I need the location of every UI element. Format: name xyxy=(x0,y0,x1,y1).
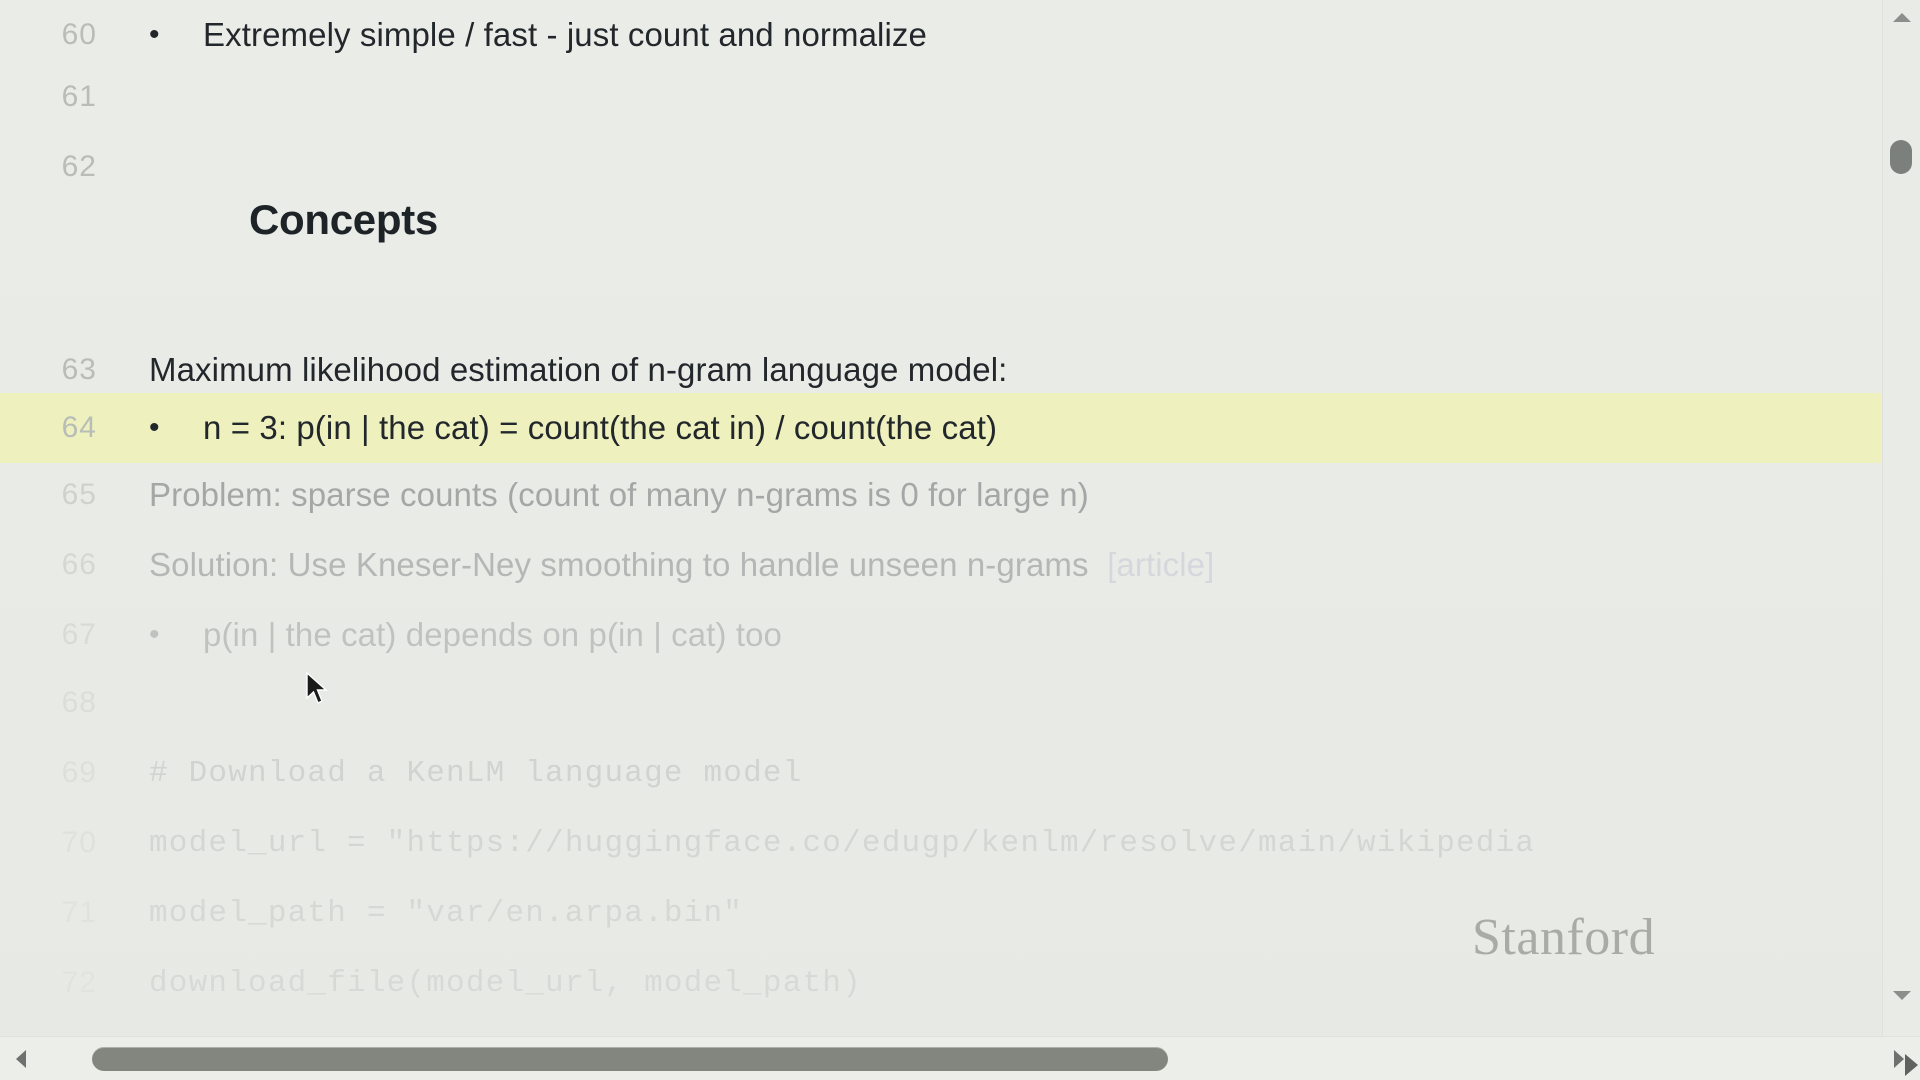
line-number: 63 xyxy=(0,353,125,387)
line-content: model_url = "https://huggingface.co/edug… xyxy=(125,826,1882,861)
line-text: Problem: sparse counts (count of many n-… xyxy=(149,476,1089,514)
code-text: # Download a KenLM language model xyxy=(149,756,803,791)
horizontal-scrollbar-thumb[interactable] xyxy=(92,1047,1168,1071)
line-content: •p(in | the cat) depends on p(in | cat) … xyxy=(125,616,1882,654)
line-number: 69 xyxy=(0,756,125,790)
line-text: Maximum likelihood estimation of n-gram … xyxy=(149,351,1007,389)
code-text: model_path = "var/en.arpa.bin" xyxy=(149,896,743,931)
line-number: 60 xyxy=(0,18,125,52)
bullet-icon: • xyxy=(149,413,203,443)
line-content: download_file(model_url, model_path) xyxy=(125,966,1882,1001)
scroll-left-arrow-icon[interactable] xyxy=(6,1045,36,1073)
line-content: # Download a KenLM language model xyxy=(125,756,1882,791)
code-text: download_file(model_url, model_path) xyxy=(149,966,862,1001)
vertical-scrollbar[interactable] xyxy=(1882,0,1920,1036)
scroll-up-arrow-icon[interactable] xyxy=(1883,4,1920,30)
line-number: 67 xyxy=(0,618,125,652)
bullet-icon: • xyxy=(149,20,203,50)
mouse-cursor xyxy=(305,672,331,706)
slide-viewer: 60•Extremely simple / fast - just count … xyxy=(0,0,1920,1080)
line-number: 72 xyxy=(0,966,125,1000)
line-content: Solution: Use Kneser-Ney smoothing to ha… xyxy=(125,546,1882,584)
line-number: 66 xyxy=(0,548,125,582)
line-content: •n = 3: p(in | the cat) = count(the cat … xyxy=(125,409,1882,447)
line-number: 64 xyxy=(0,411,125,445)
document-line[interactable]: 65Problem: sparse counts (count of many … xyxy=(0,460,1882,530)
bullet-icon: • xyxy=(149,620,203,650)
line-content: •Extremely simple / fast - just count an… xyxy=(125,16,1882,54)
document-line[interactable]: 62 xyxy=(0,132,1882,202)
line-text: Extremely simple / fast - just count and… xyxy=(203,16,927,54)
document-line[interactable]: 69# Download a KenLM language model xyxy=(0,738,1882,808)
line-content: Problem: sparse counts (count of many n-… xyxy=(125,476,1882,514)
document-line[interactable]: 61 xyxy=(0,62,1882,132)
line-number: 68 xyxy=(0,686,125,720)
line-number: 70 xyxy=(0,826,125,860)
line-number: 65 xyxy=(0,478,125,512)
document-line[interactable]: 64•n = 3: p(in | the cat) = count(the ca… xyxy=(0,393,1882,463)
line-number: 62 xyxy=(0,150,125,184)
code-text: model_url = "https://huggingface.co/edug… xyxy=(149,826,1535,861)
line-text: n = 3: p(in | the cat) = count(the cat i… xyxy=(203,409,997,447)
document-line[interactable]: 66Solution: Use Kneser-Ney smoothing to … xyxy=(0,530,1882,600)
line-content: Maximum likelihood estimation of n-gram … xyxy=(125,351,1882,389)
article-link[interactable]: [article] xyxy=(1107,546,1214,584)
line-number: 61 xyxy=(0,80,125,114)
scroll-down-arrow-icon[interactable] xyxy=(1883,982,1920,1008)
document-line[interactable]: 68 xyxy=(0,668,1882,738)
corner-resize-arrow-icon[interactable] xyxy=(1905,1054,1918,1076)
line-text: Solution: Use Kneser-Ney smoothing to ha… xyxy=(149,546,1089,584)
spacer xyxy=(1089,546,1108,584)
document-viewport[interactable]: 60•Extremely simple / fast - just count … xyxy=(0,0,1882,1036)
horizontal-scrollbar[interactable] xyxy=(0,1036,1920,1080)
document-line[interactable]: 60•Extremely simple / fast - just count … xyxy=(0,0,1882,70)
line-text: p(in | the cat) depends on p(in | cat) t… xyxy=(203,616,782,654)
stanford-watermark: Stanford xyxy=(1472,908,1655,967)
vertical-scrollbar-thumb[interactable] xyxy=(1890,140,1912,174)
line-number: 71 xyxy=(0,896,125,930)
document-line[interactable]: 70model_url = "https://huggingface.co/ed… xyxy=(0,808,1882,878)
document-line[interactable]: 67•p(in | the cat) depends on p(in | cat… xyxy=(0,600,1882,670)
page-section-heading: Concepts xyxy=(249,196,438,244)
